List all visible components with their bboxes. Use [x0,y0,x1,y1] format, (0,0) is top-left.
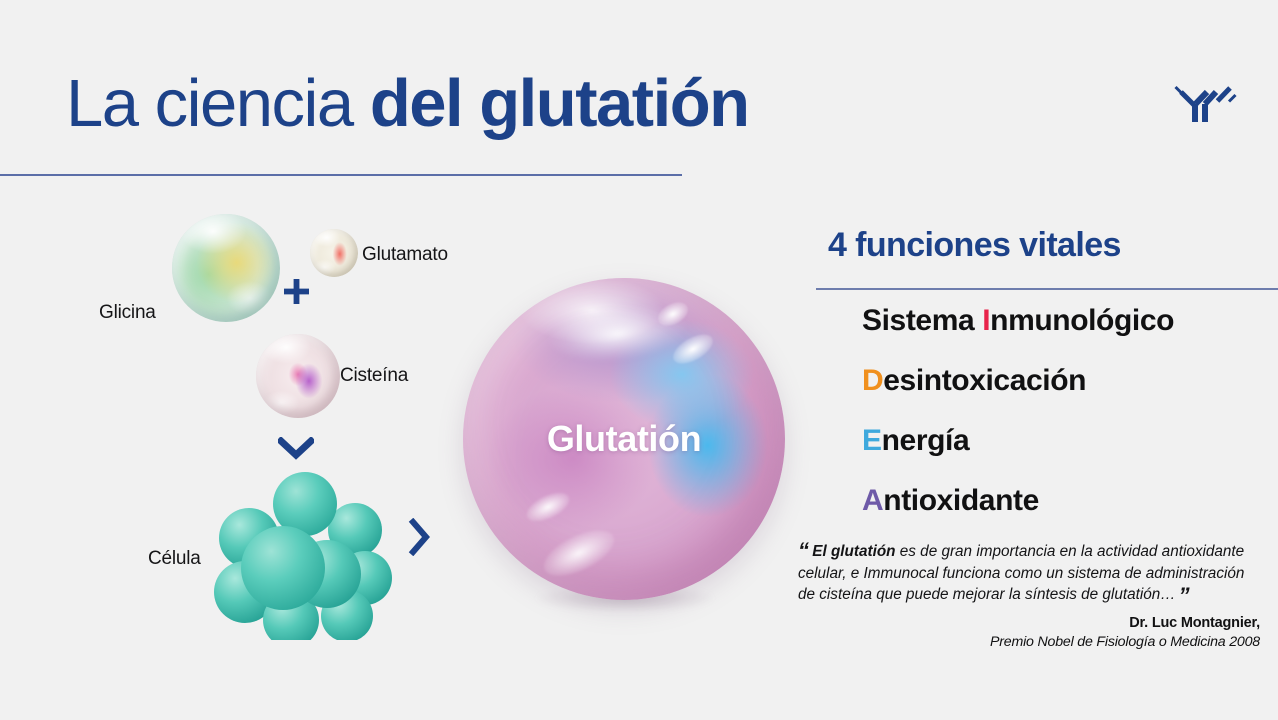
function-initial: A [862,484,883,517]
testimonial-quote-block: “ El glutatión es de gran importancia en… [798,540,1260,650]
quote-author-role: Premio Nobel de Fisiología o Medicina 20… [798,634,1260,650]
page-title-bold: del glutatión [370,66,749,141]
function-initial: I [982,304,990,337]
quote-attribution: Dr. Luc Montagnier, Premio Nobel de Fisi… [798,615,1260,650]
label-celula: Célula [148,548,201,570]
quote-open-mark: “ [798,538,808,563]
function-rest: nmunológico [990,304,1174,337]
quote-text: “ El glutatión es de gran importancia en… [798,540,1260,607]
function-rest: ntioxidante [883,484,1039,517]
immunocal-antibody-logo [1172,78,1242,130]
infographic-canvas: La ciencia del glutatión Glicina Glutama… [0,0,1278,720]
title-divider [0,174,682,176]
quote-lead: El glutatión [812,543,895,560]
label-glicina: Glicina [99,302,156,324]
sphere-highlight [523,487,574,527]
label-cisteina: Cisteína [340,365,408,387]
function-initial: D [862,364,883,397]
plus-icon [284,279,309,304]
vital-functions-list: Sistema Inmunológico Desintoxicación Ene… [862,306,1278,546]
amino-acid-bubble-glutamato [310,229,358,277]
page-title-light: La ciencia [66,66,370,141]
function-item-desintoxicacion: Desintoxicación [862,366,1278,396]
amino-acid-bubble-glicina [172,214,280,322]
function-rest: esintoxicación [883,364,1086,397]
sphere-highlight [537,521,620,585]
function-rest: nergía [882,424,970,457]
function-prefix: Sistema [862,304,982,337]
function-initial: E [862,424,882,457]
quote-author: Dr. Luc Montagnier, [798,615,1260,631]
function-item-energia: Energía [862,426,1278,456]
chevron-down-icon [278,437,314,461]
panel-title: 4 funciones vitales [828,226,1121,265]
panel-divider [816,288,1278,290]
amino-acid-bubble-cisteina [256,334,340,418]
cell-cluster-illustration [205,470,405,640]
quote-close-mark: ” [1179,583,1189,608]
page-title: La ciencia del glutatión [66,70,749,137]
label-glutamato: Glutamato [362,244,448,266]
chevron-right-icon [408,518,432,556]
function-item-inmunologico: Sistema Inmunológico [862,306,1278,336]
function-item-antioxidante: Antioxidante [862,486,1278,516]
glutathione-sphere: Glutatión [455,278,795,638]
sphere-label: Glutatión [455,418,793,460]
